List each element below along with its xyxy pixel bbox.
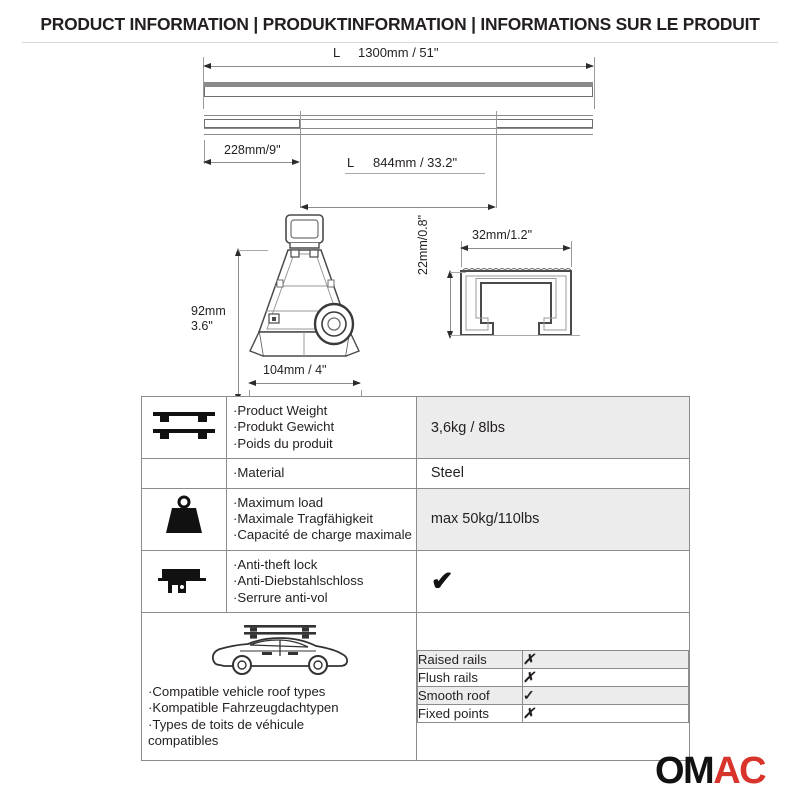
bar-cross-section-drawing bbox=[455, 261, 580, 346]
bar-foot-block-left bbox=[204, 119, 300, 128]
dim-arrow-right-228 bbox=[292, 159, 300, 165]
label-group-material: ·Material bbox=[233, 465, 412, 481]
cell-label-anti-theft-lock: ·Anti-theft lock ·Anti-Diebstahlschloss … bbox=[227, 550, 417, 612]
dim-line-92 bbox=[238, 253, 239, 396]
dim-844-underline bbox=[345, 173, 485, 174]
weight-icon bbox=[159, 495, 209, 539]
roof-type-mark-cross-icon: ✗ bbox=[522, 704, 688, 722]
cell-value-material: Steel bbox=[416, 459, 689, 488]
ext-line-right-top bbox=[594, 57, 595, 109]
roof-type-mark-cross-icon: ✗ bbox=[522, 650, 688, 668]
label-group-product-weight: ·Product Weight ·Produkt Gewicht ·Poids … bbox=[233, 403, 412, 452]
label-de: ·Anti-Diebstahlschloss bbox=[233, 573, 412, 589]
lock-icon bbox=[154, 559, 214, 599]
label-group-anti-theft-lock: ·Anti-theft lock ·Anti-Diebstahlschloss … bbox=[233, 557, 412, 606]
page-title: PRODUCT INFORMATION | PRODUKTINFORMATION… bbox=[0, 14, 800, 35]
page-header: PRODUCT INFORMATION | PRODUKTINFORMATION… bbox=[0, 14, 800, 35]
dim-line-32 bbox=[463, 248, 570, 249]
omac-logo: OMAC bbox=[655, 752, 765, 790]
label-fr: ·Types de toits de véhicule bbox=[148, 717, 410, 733]
cell-value-maximum-load: max 50kg/110lbs bbox=[416, 488, 689, 550]
ext-line-92-top bbox=[238, 250, 268, 251]
cell-value-product-weight: 3,6kg / 8lbs bbox=[416, 397, 689, 459]
bar-mid-line-1 bbox=[204, 115, 593, 116]
dim-line-104 bbox=[251, 383, 360, 384]
logo-text-om: OM bbox=[655, 750, 713, 792]
cell-label-maximum-load: ·Maximum load ·Maximale Tragfähigkeit ·C… bbox=[227, 488, 417, 550]
bar-top-body bbox=[204, 87, 593, 97]
roof-type-mark-cross-icon: ✗ bbox=[522, 668, 688, 686]
label-fr: ·Capacité de charge maximale bbox=[233, 527, 412, 543]
dim-arrow-right-104 bbox=[353, 380, 361, 386]
cell-icon-weight bbox=[142, 488, 227, 550]
logo-text-ac: AC bbox=[713, 750, 765, 792]
bar-mid-line-4 bbox=[204, 134, 593, 135]
label-group-maximum-load: ·Maximum load ·Maximale Tragfähigkeit ·C… bbox=[233, 495, 412, 544]
cell-roof-types-info: ·Compatible vehicle roof types ·Kompatib… bbox=[142, 613, 417, 761]
roof-type-row-smooth-roof: Smooth roof ✓ bbox=[417, 686, 688, 704]
dim-arrow-left-844 bbox=[300, 204, 308, 210]
table-row-product-weight: ·Product Weight ·Produkt Gewicht ·Poids … bbox=[142, 397, 690, 459]
table-row-roof-types: ·Compatible vehicle roof types ·Kompatib… bbox=[142, 613, 690, 761]
dim-line-22 bbox=[450, 275, 451, 333]
dim-line-228 bbox=[206, 162, 298, 163]
label-de: ·Produkt Gewicht bbox=[233, 419, 412, 435]
table-row-anti-theft-lock: ·Anti-theft lock ·Anti-Diebstahlschloss … bbox=[142, 550, 690, 612]
roof-type-name: Flush rails bbox=[417, 668, 522, 686]
technical-drawing: L 1300mm / 51" 228mm/9" L 844mm / 33.2" bbox=[0, 45, 800, 390]
product-information-sheet: PRODUCT INFORMATION | PRODUKTINFORMATION… bbox=[0, 0, 800, 800]
dim-32-label: 32mm/1.2" bbox=[472, 228, 532, 242]
label-fr: ·Poids du produit bbox=[233, 436, 412, 452]
roof-type-name: Smooth roof bbox=[417, 686, 522, 704]
roof-type-row-flush-rails: Flush rails ✗ bbox=[417, 668, 688, 686]
cell-label-product-weight: ·Product Weight ·Produkt Gewicht ·Poids … bbox=[227, 397, 417, 459]
label-en: ·Product Weight bbox=[233, 403, 412, 419]
label-fr-cont: compatibles bbox=[148, 733, 410, 749]
roof-type-row-raised-rails: Raised rails ✗ bbox=[417, 650, 688, 668]
dim-line-844 bbox=[303, 207, 494, 208]
specifications-table: ·Product Weight ·Produkt Gewicht ·Poids … bbox=[141, 396, 690, 761]
car-with-rack-icon bbox=[204, 621, 354, 675]
dim-arrow-right-1300 bbox=[586, 63, 594, 69]
dim-92-in: 3.6" bbox=[191, 319, 213, 333]
roof-types-table: Raised rails ✗ Flush rails ✗ Smooth roof… bbox=[417, 650, 689, 723]
roof-type-mark-check-icon: ✓ bbox=[522, 686, 688, 704]
dim-844-prefix: L bbox=[347, 155, 354, 170]
cell-label-material: ·Material bbox=[227, 459, 417, 488]
cell-icon-material-empty bbox=[142, 459, 227, 488]
bar-foot-block-right bbox=[496, 119, 593, 128]
dim-arrow-left-228 bbox=[203, 159, 211, 165]
label-de: ·Kompatible Fahrzeugdachtypen bbox=[148, 700, 410, 716]
bar-top-length-prefix: L bbox=[333, 45, 340, 60]
ref-line-foot-right bbox=[496, 111, 497, 208]
ref-line-foot-left bbox=[300, 111, 301, 208]
cell-value-anti-theft-lock: ✔ bbox=[416, 550, 689, 612]
label-fr: ·Serrure anti-vol bbox=[233, 590, 412, 606]
ext-line-32-right bbox=[571, 241, 572, 267]
dim-arrow-right-844 bbox=[488, 204, 496, 210]
cell-icon-lock bbox=[142, 550, 227, 612]
dim-22-label: 22mm/0.8" bbox=[416, 205, 430, 275]
bar-top-length-value: 1300mm / 51" bbox=[358, 45, 439, 60]
header-divider bbox=[22, 42, 778, 43]
dim-104-label: 104mm / 4" bbox=[263, 363, 327, 377]
dim-844-label: 844mm / 33.2" bbox=[373, 155, 457, 170]
cell-roof-types-table: Raised rails ✗ Flush rails ✗ Smooth roof… bbox=[416, 613, 689, 761]
label-en: ·Compatible vehicle roof types bbox=[148, 684, 410, 700]
dim-arrow-right-32 bbox=[563, 245, 571, 251]
label-en: ·Material bbox=[233, 465, 412, 481]
dim-arrow-left-1300 bbox=[203, 63, 211, 69]
car-icon-wrapper bbox=[148, 621, 410, 680]
label-en: ·Anti-theft lock bbox=[233, 557, 412, 573]
dim-228-label: 228mm/9" bbox=[224, 143, 281, 157]
bar-mid-line-3 bbox=[204, 128, 593, 129]
dim-92-mm: 92mm bbox=[191, 304, 226, 318]
table-row-maximum-load: ·Maximum load ·Maximale Tragfähigkeit ·C… bbox=[142, 488, 690, 550]
label-group-roof-types: ·Compatible vehicle roof types ·Kompatib… bbox=[148, 684, 410, 750]
roof-type-name: Fixed points bbox=[417, 704, 522, 722]
cell-icon-crossbars bbox=[142, 397, 227, 459]
checkmark-icon: ✔ bbox=[431, 566, 454, 596]
ext-line-22-bottom bbox=[450, 335, 580, 336]
roof-type-row-fixed-points: Fixed points ✗ bbox=[417, 704, 688, 722]
crossbars-icon bbox=[151, 405, 217, 445]
dim-arrow-left-104 bbox=[248, 380, 256, 386]
dim-arrow-left-32 bbox=[460, 245, 468, 251]
dim-line-1300 bbox=[205, 66, 593, 67]
roof-type-name: Raised rails bbox=[417, 650, 522, 668]
label-en: ·Maximum load bbox=[233, 495, 412, 511]
table-row-material: ·Material Steel bbox=[142, 459, 690, 488]
label-de: ·Maximale Tragfähigkeit bbox=[233, 511, 412, 527]
ext-line-22-top bbox=[450, 272, 466, 273]
